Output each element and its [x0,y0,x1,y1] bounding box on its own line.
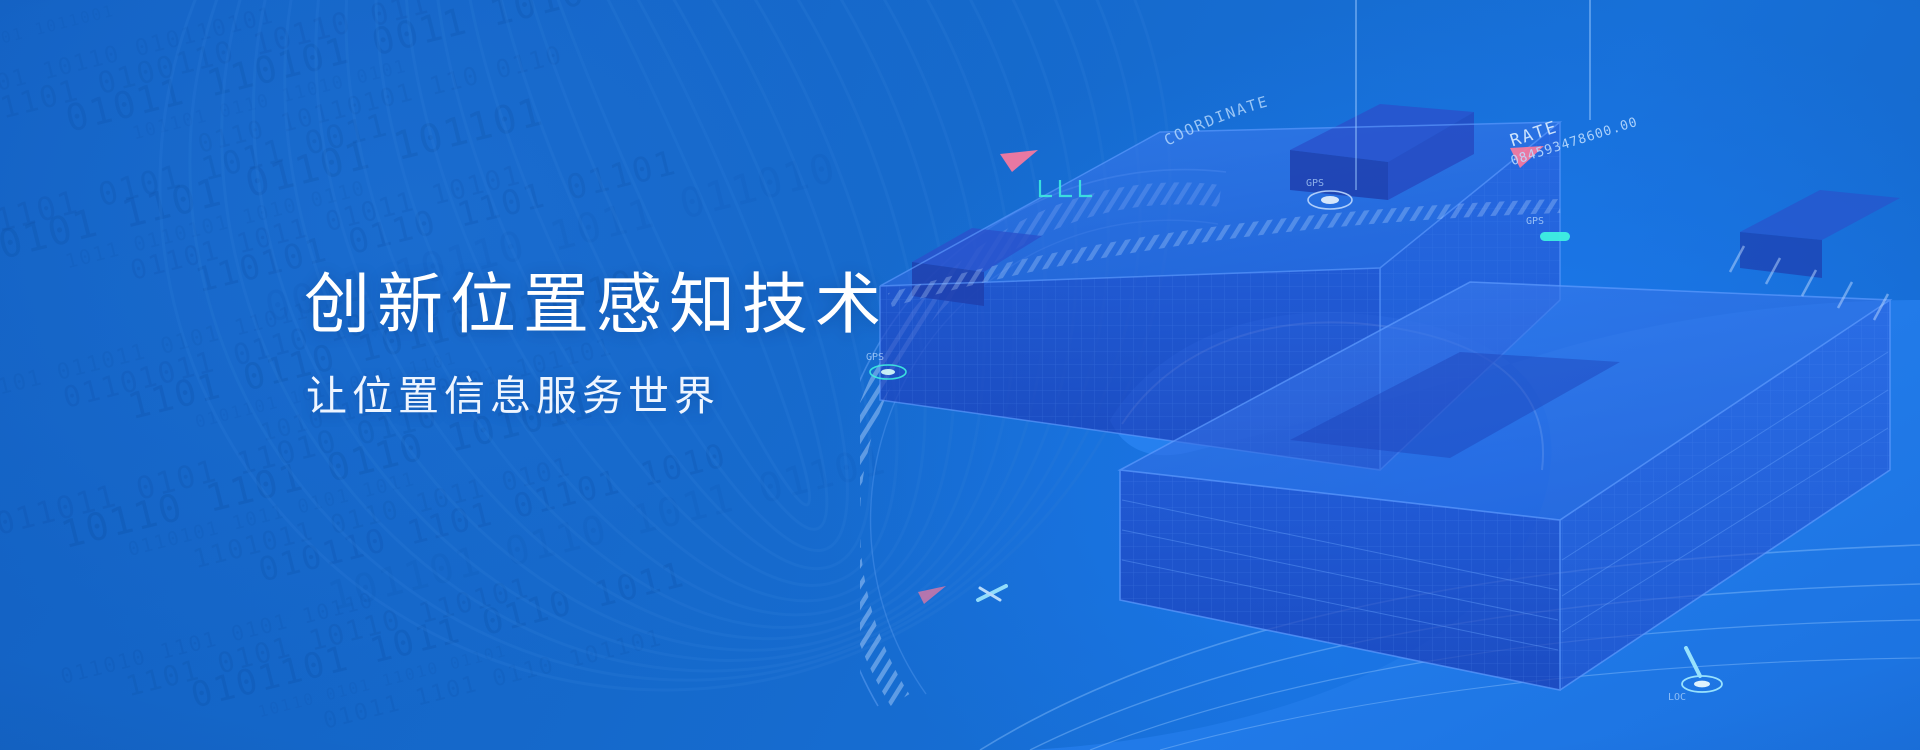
hero-copy-block: 创新位置感知技术 让位置信息服务世界 [304,268,888,421]
page-subtitle: 让位置信息服务世界 [306,372,888,421]
hero-banner: 10110100 01101 1011001011001 10110 01011… [0,0,1920,750]
page-title: 创新位置感知技术 [304,268,888,342]
vignette-overlay [0,0,1920,750]
